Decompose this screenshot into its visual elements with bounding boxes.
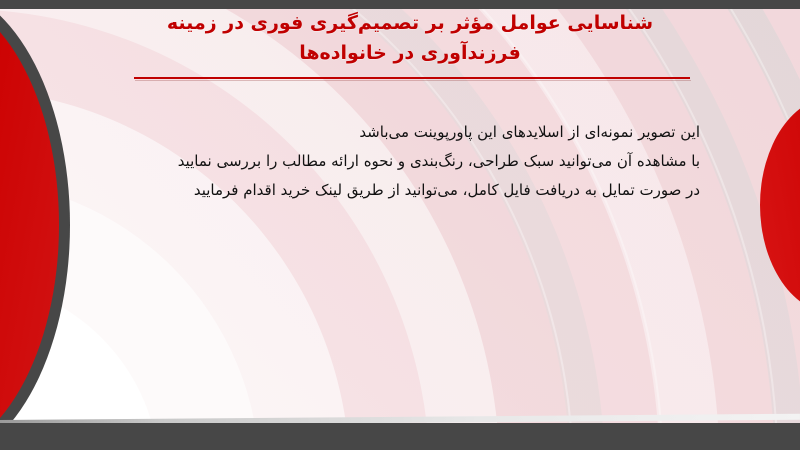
slide-body-line-2: با مشاهده آن می‌توانید سبک طراحی، رنگ‌بن… bbox=[100, 147, 700, 176]
slide-title-line-2: فرزندآوری در خانواده‌ها bbox=[120, 38, 700, 68]
slide-title: شناسایی عوامل مؤثر بر تصمیم‌گیری فوری در… bbox=[120, 8, 700, 68]
slide-body-line-1: این تصویر نمونه‌ای از اسلایدهای این پاور… bbox=[100, 118, 700, 147]
slide-body-line-3: در صورت تمایل به دریافت فایل کامل، می‌تو… bbox=[100, 176, 700, 205]
title-underline bbox=[134, 77, 690, 79]
presentation-slide: شناسایی عوامل مؤثر بر تصمیم‌گیری فوری در… bbox=[0, 0, 800, 450]
slide-title-line-1: شناسایی عوامل مؤثر بر تصمیم‌گیری فوری در… bbox=[120, 8, 700, 38]
bottom-bar bbox=[0, 423, 800, 450]
slide-background-panel bbox=[0, 9, 800, 423]
background-arc-bands bbox=[0, 9, 800, 423]
title-underline-shadow bbox=[135, 80, 691, 81]
slide-body: این تصویر نمونه‌ای از اسلایدهای این پاور… bbox=[100, 118, 700, 205]
